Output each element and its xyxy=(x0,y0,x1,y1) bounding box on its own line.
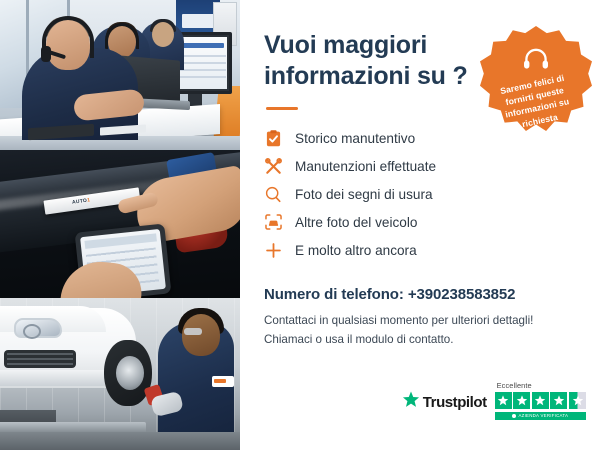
list-item: Altre foto del veicolo xyxy=(264,208,578,236)
rating-word: Eccellente xyxy=(495,381,532,390)
page-title: Vuoi maggiori informazioni su ? xyxy=(264,30,479,92)
ruler-brand-mark: AUTO1 xyxy=(72,197,91,205)
contact-line-1: Contattaci in qualsiasi momento per ulte… xyxy=(264,312,578,331)
workshop-floor xyxy=(0,432,240,450)
agent3-head xyxy=(152,22,174,47)
car-headlight xyxy=(14,318,62,338)
car-scan-icon xyxy=(264,213,282,231)
headset-icon xyxy=(523,48,549,75)
list-item: E molto altro ancora xyxy=(264,236,578,264)
title-divider xyxy=(266,107,298,110)
plus-icon xyxy=(264,241,282,259)
verified-label: AZIENDA VERIFICATA xyxy=(518,413,568,418)
trustpilot-logo: Trustpilot xyxy=(402,381,487,413)
clipboard-check-icon xyxy=(264,129,282,147)
star-partial-icon xyxy=(569,392,586,409)
vehicle-inspection-ruler-photo: AUTO1 xyxy=(0,150,240,298)
list-item: Foto dei segni di usura xyxy=(264,180,578,208)
star-filled-icon xyxy=(495,392,512,409)
phone-number[interactable]: +390238583852 xyxy=(408,286,516,303)
list-item-label: E molto altro ancora xyxy=(295,243,417,258)
list-item: Manutenzioni effettuate xyxy=(264,152,578,180)
list-item-label: Storico manutentivo xyxy=(295,131,415,146)
trustpilot-wordmark: Trustpilot xyxy=(423,394,487,411)
uniform-logo-badge xyxy=(212,376,234,387)
list-item-label: Altre foto del veicolo xyxy=(295,215,417,230)
feature-list: Storico manutentivo Manutenzioni effettu… xyxy=(264,124,578,264)
star-filled-icon xyxy=(532,392,549,409)
star-rating xyxy=(495,392,586,409)
status-badge: AZIENDA VERIFICATA xyxy=(495,412,586,420)
wheel-rim xyxy=(116,356,144,390)
agent2-headset-icon xyxy=(105,23,139,49)
phone-number-line: Numero di telefono: +390238583852 xyxy=(264,286,578,303)
photo-column: AUTO1 xyxy=(0,0,240,450)
trustpilot-rating-block: Eccellente xyxy=(495,381,586,420)
call-center-agents-photo xyxy=(0,0,240,150)
magnifier-icon xyxy=(264,185,282,203)
list-item-label: Foto dei segni di usura xyxy=(295,187,433,202)
crossed-tools-icon xyxy=(264,157,282,175)
callout-badge: Saremo felici di fornirti queste informa… xyxy=(480,26,592,138)
star-filled-icon xyxy=(550,392,567,409)
list-item-label: Manutenzioni effettuate xyxy=(295,159,436,174)
trustpilot-star-icon xyxy=(402,391,420,413)
mechanic-head xyxy=(182,314,220,356)
contact-line-2: Chiamaci o usa il modulo di contatto. xyxy=(264,331,578,350)
verified-check-icon xyxy=(512,414,516,418)
promo-banner: AUTO1 xyxy=(0,0,600,450)
phone-label: Numero di telefono: xyxy=(264,286,408,303)
contact-instructions: Contattaci in qualsiasi momento per ulte… xyxy=(264,312,578,350)
car-grille xyxy=(4,350,76,368)
star-filled-icon xyxy=(513,392,530,409)
mechanic-glasses xyxy=(184,328,202,335)
content-panel: Vuoi maggiori informazioni su ? Saremo f… xyxy=(240,0,600,450)
car-on-lift-mechanic-photo xyxy=(0,298,240,450)
monitor-stand xyxy=(188,94,202,106)
car-bumper xyxy=(0,370,112,386)
trustpilot-widget[interactable]: Trustpilot Eccellente xyxy=(402,381,586,420)
